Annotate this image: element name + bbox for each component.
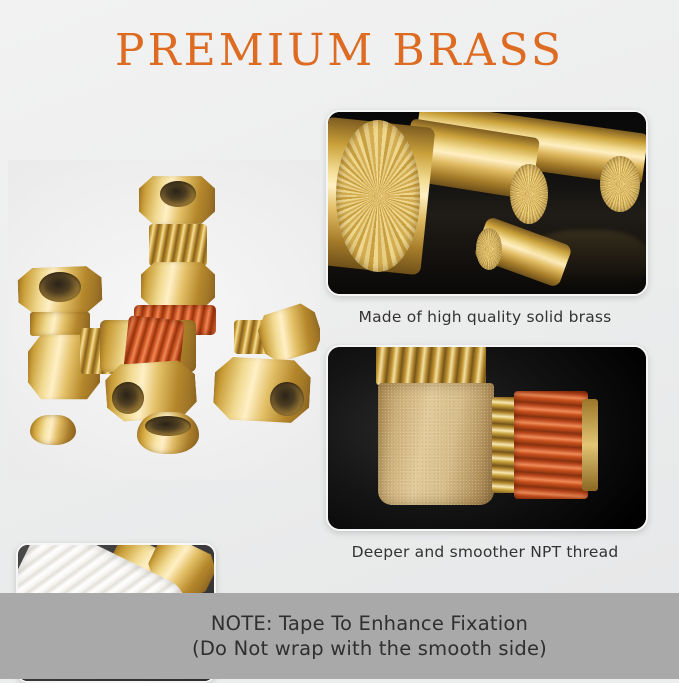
feature-image-solid-brass: [326, 110, 648, 296]
note-line-2: (Do Not wrap with the smooth side): [0, 637, 679, 660]
fitting-top-thread: [149, 224, 207, 266]
ferrule-small: [30, 415, 76, 445]
brass-bars-reflection: [528, 230, 648, 290]
brass-bar-small-face: [476, 228, 502, 270]
elbow-fitting-scene: [328, 347, 646, 529]
elbow-top-thread: [376, 345, 486, 385]
elbow-square-body: [378, 383, 494, 505]
hero-product-image: [8, 160, 320, 480]
infographic-canvas: PREMIUM BRASS: [0, 0, 679, 679]
brass-bar-middle-face: [510, 164, 548, 224]
brass-bar-back-face: [600, 156, 640, 212]
elbow-red-npt-thread: [514, 391, 588, 499]
ferrule-large-bore: [145, 416, 191, 436]
fitting-left-bore: [39, 272, 81, 302]
feature-image-npt-thread: [326, 345, 648, 531]
note-line-1: NOTE: Tape To Enhance Fixation: [0, 612, 679, 635]
note-banner: NOTE: Tape To Enhance Fixation (Do Not w…: [0, 593, 679, 679]
caption-npt-thread: Deeper and smoother NPT thread: [326, 543, 644, 561]
fitting-right-bore: [270, 382, 304, 416]
caption-solid-brass: Made of high quality solid brass: [326, 308, 644, 326]
brass-bar-front-face: [336, 120, 420, 272]
fitting-top-bore: [160, 181, 196, 207]
brass-bars-scene: [328, 112, 646, 294]
page-title: PREMIUM BRASS: [0, 28, 679, 74]
fitting-right-end-nut: [253, 298, 320, 368]
elbow-thread-tip: [582, 399, 598, 491]
fitting-lower-left-bore: [112, 382, 144, 414]
